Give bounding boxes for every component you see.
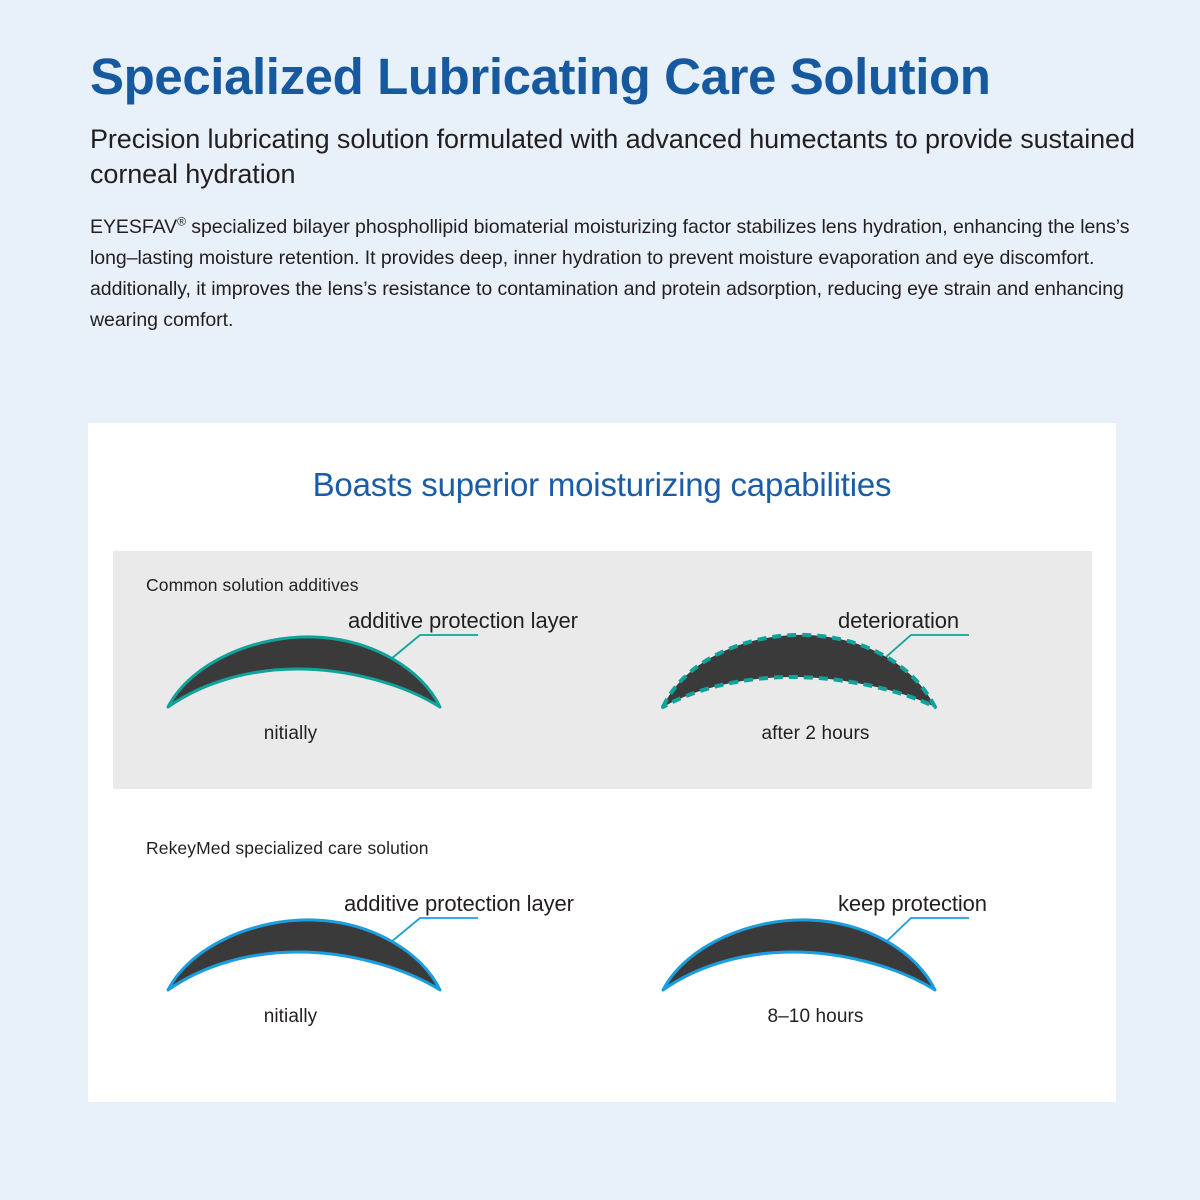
lens-crescent-shape bbox=[168, 920, 440, 990]
body-copy: specialized bilayer phosphollipid biomat… bbox=[90, 216, 1129, 331]
callout-leader-line bbox=[886, 918, 969, 942]
figure-caption-initially: nitially bbox=[148, 721, 433, 747]
comparison-card: Boasts superior moisturizing capabilitie… bbox=[88, 423, 1116, 1102]
figure-caption-after-2-hours: after 2 hours bbox=[673, 721, 958, 747]
panel-label-common-additives: Common solution additives bbox=[146, 574, 359, 596]
callout-label-additive-protection-layer: additive protection layer bbox=[344, 890, 574, 918]
panel-label-rekeymed-solution: RekeyMed specialized care solution bbox=[146, 837, 429, 859]
brand-name: EYESFAV bbox=[90, 216, 177, 238]
page-body-paragraph: EYESFAV® specialized bilayer phosphollip… bbox=[90, 212, 1135, 336]
callout-leader-line bbox=[391, 918, 478, 942]
registered-trademark-icon: ® bbox=[177, 215, 186, 229]
callout-leader-line bbox=[391, 635, 478, 659]
callout-label-keep-protection: keep protection bbox=[838, 890, 987, 918]
panel-rekeymed-solution: RekeyMed specialized care solution addit… bbox=[113, 789, 1092, 1102]
card-heading: Boasts superior moisturizing capabilitie… bbox=[88, 465, 1116, 505]
page-subtitle: Precision lubricating solution formulate… bbox=[90, 122, 1145, 192]
page-header: Specialized Lubricating Care Solution Pr… bbox=[90, 48, 1150, 336]
callout-leader-line bbox=[886, 635, 969, 657]
page-title: Specialized Lubricating Care Solution bbox=[90, 48, 1150, 106]
callout-label-deterioration: deterioration bbox=[838, 607, 959, 635]
figure-rekeymed-initially: additive protection layer nitially bbox=[148, 894, 618, 1064]
figure-common-after-2-hours: deterioration after 2 hours bbox=[643, 611, 1113, 781]
figure-caption-8-10-hours: 8–10 hours bbox=[673, 1004, 958, 1030]
figure-common-initially: additive protection layer nitially bbox=[148, 611, 618, 781]
callout-label-additive-protection-layer: additive protection layer bbox=[348, 607, 578, 635]
figure-rekeymed-8-10-hours: keep protection 8–10 hours bbox=[643, 894, 1113, 1064]
lens-crescent-shape-dashed bbox=[663, 635, 935, 707]
panel-common-additives: Common solution additives additive prote… bbox=[113, 551, 1092, 789]
lens-crescent-shape bbox=[663, 920, 935, 990]
figure-caption-initially: nitially bbox=[148, 1004, 433, 1030]
lens-crescent-shape bbox=[168, 637, 440, 707]
